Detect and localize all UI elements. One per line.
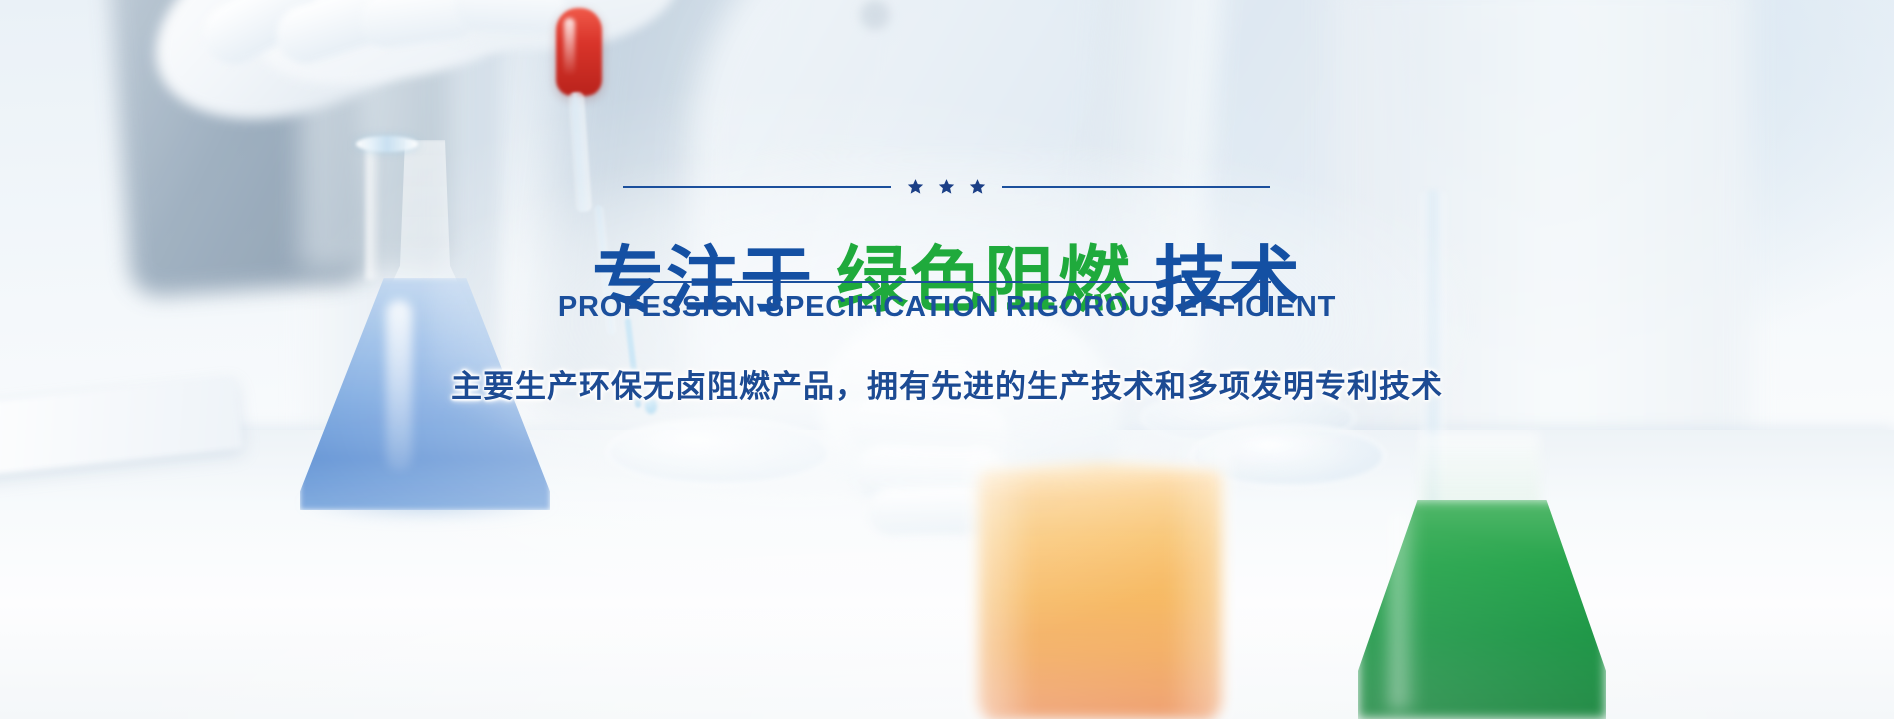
divider-line-left: [623, 186, 891, 188]
star-icon: [969, 178, 986, 195]
english-subtitle: PROFESSION SPECIFICATION RIGOROUS EFFICI…: [558, 291, 1336, 324]
tagline: 主要生产环保无卤阻燃产品，拥有先进的生产技术和多项发明专利技术: [451, 361, 1443, 406]
top-divider: [623, 178, 1271, 195]
star-group: [907, 178, 986, 195]
star-icon: [938, 178, 955, 195]
banner-content: 专注于绿色阻燃技术 PROFESSION SPECIFICATION RIGOR…: [0, 0, 1894, 719]
bottom-divider: [623, 281, 1271, 283]
divider-line-right: [1002, 186, 1270, 188]
star-icon: [907, 178, 924, 195]
hero-banner: 专注于绿色阻燃技术 PROFESSION SPECIFICATION RIGOR…: [0, 0, 1894, 719]
